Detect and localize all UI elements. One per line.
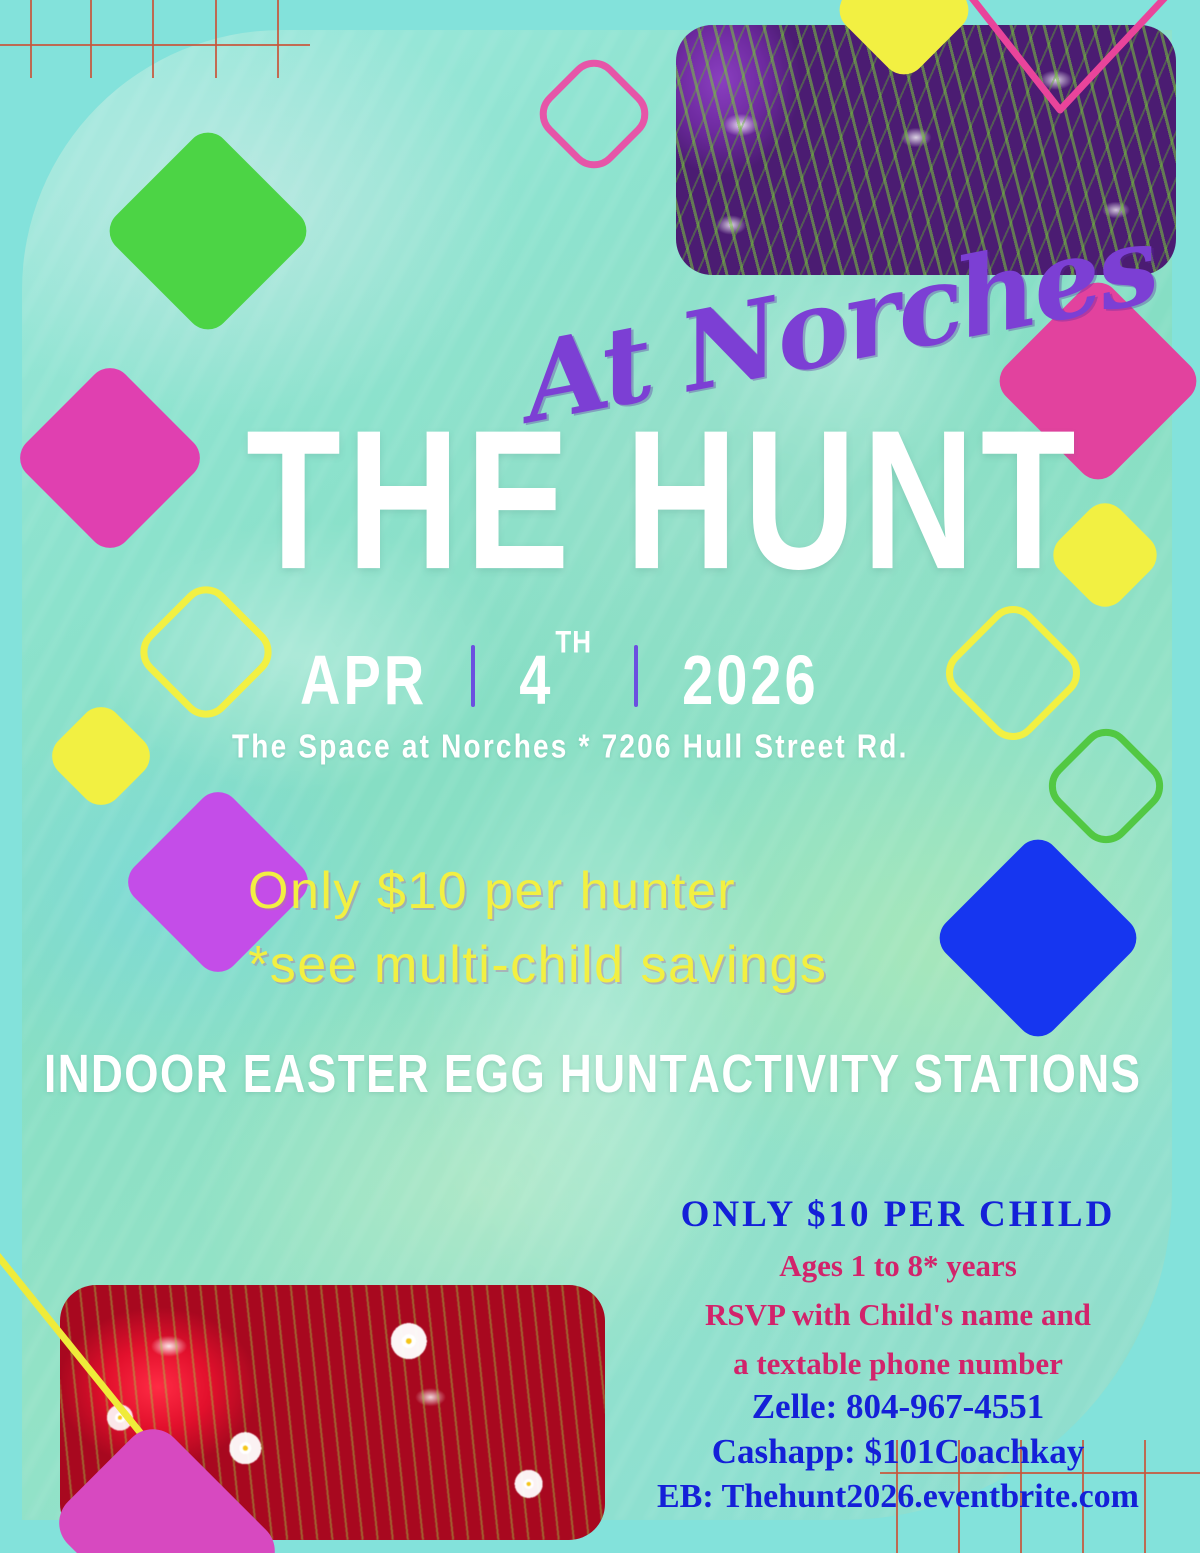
event-date-row: APR 4 TH 2026 [300,645,819,707]
page-title: THE HUNT [246,410,1082,592]
contact-cashapp[interactable]: Cashapp: $101Coachkay [638,1430,1158,1475]
price-primary: Only $10 per hunter [248,855,978,929]
contact-headline: ONLY $10 PER CHILD [638,1192,1158,1238]
feature-right: ACTIVITY STATIONS [688,1045,1141,1106]
feature-bar: INDOOR EASTER EGG HUNT ACTIVITY STATIONS [44,1044,1094,1106]
date-day: 4 [519,645,553,715]
contact-zelle[interactable]: Zelle: 804-967-4551 [638,1385,1158,1430]
feature-left: INDOOR EASTER EGG HUNT [44,1045,688,1106]
contact-ages: Ages 1 to 8* years [638,1246,1158,1287]
pricing-block: Only $10 per hunter *see multi-child sav… [248,855,978,1003]
event-flyer: At Norches THE HUNT APR 4 TH 2026 The Sp… [0,0,1200,1553]
chevron-pink-top-right [930,0,1200,160]
date-divider-1 [471,645,475,707]
date-month: APR [300,645,427,715]
venue-address: The Space at Norches * 7206 Hull Street … [232,728,909,766]
price-note: *see multi-child savings [248,929,978,1003]
contact-eventbrite[interactable]: EB: Thehunt2026.eventbrite.com [638,1475,1158,1519]
contact-rsvp-line-1: RSVP with Child's name and [638,1295,1158,1336]
contact-rsvp-line-2: a textable phone number [638,1344,1158,1385]
contact-block: ONLY $10 PER CHILD Ages 1 to 8* years RS… [638,1192,1158,1518]
date-day-suffix: TH [555,624,592,661]
date-year: 2026 [682,645,819,715]
date-divider-2 [634,645,638,707]
